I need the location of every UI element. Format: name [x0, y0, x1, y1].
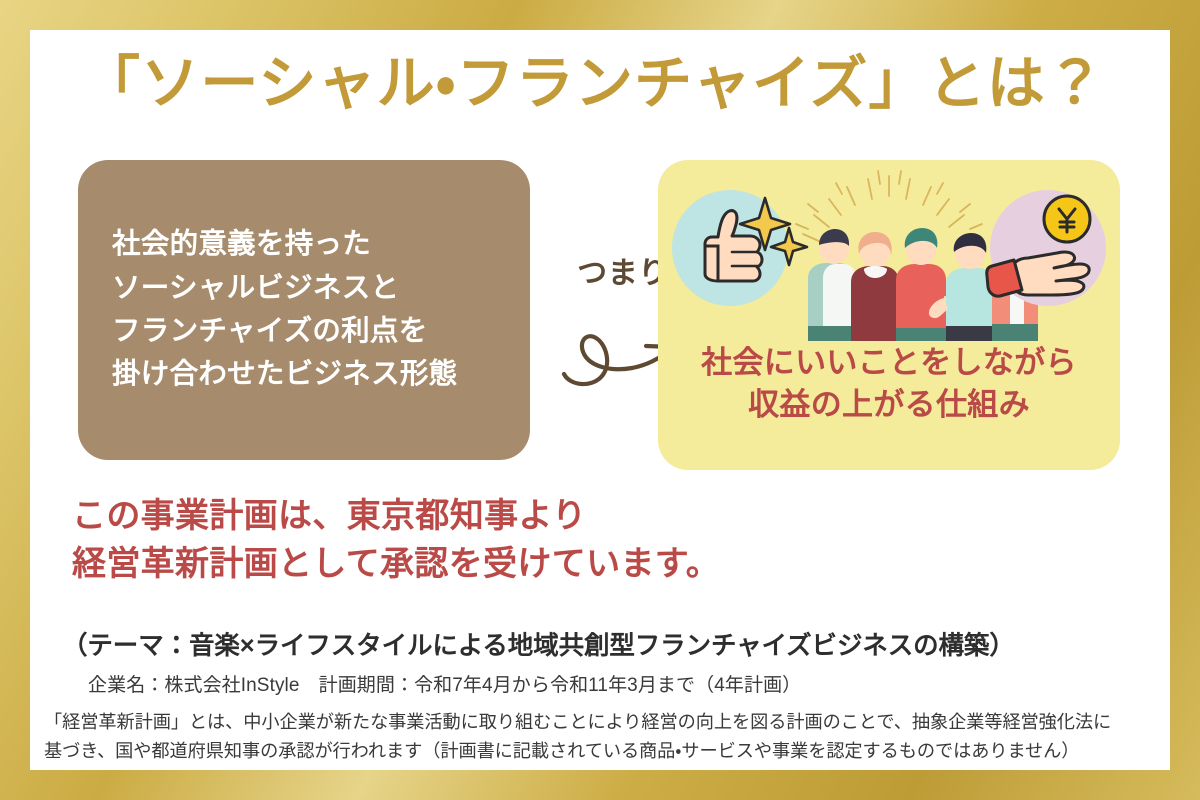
result-box-illustration — [658, 166, 1120, 341]
company-info-line: 企業名：株式会社InStyle 計画期間：令和7年4月から令和11年3月まで（4… — [88, 670, 801, 697]
approval-statement: この事業計画は、東京都知事より 経営革新計画として承認を受けています。 — [72, 492, 720, 589]
slide-card: 「ソーシャル・フランチャイズ」とは？ 社会的意義を持った ソーシャルビジネスと … — [30, 30, 1170, 770]
hand-with-yen-coin-icon — [987, 190, 1106, 306]
definition-box: 社会的意義を持った ソーシャルビジネスと フランチャイズの利点を 掛け合わせたビ… — [78, 160, 530, 460]
result-box: 社会にいいことをしながら 収益の上がる仕組み — [658, 160, 1120, 470]
theme-line: （テーマ：音楽×ライフスタイルによる地域共創型フランチャイズビジネスの構築） — [62, 625, 1142, 662]
thumbs-up-icon — [672, 190, 807, 306]
footnote-text: 「経営革新計画」とは、中小企業が新たな事業活動に取り組むことにより経営の向上を図… — [44, 708, 1162, 767]
result-box-text: 社会にいいことをしながら 収益の上がる仕組み — [658, 342, 1120, 426]
page-title: 「ソーシャル・フランチャイズ」とは？ — [82, 52, 1132, 116]
definition-box-text: 社会的意義を持った ソーシャルビジネスと フランチャイズの利点を 掛け合わせたビ… — [112, 223, 457, 396]
slide-root: 「ソーシャル・フランチャイズ」とは？ 社会的意義を持った ソーシャルビジネスと … — [0, 0, 1200, 800]
sunburst-rays-icon — [796, 171, 982, 242]
